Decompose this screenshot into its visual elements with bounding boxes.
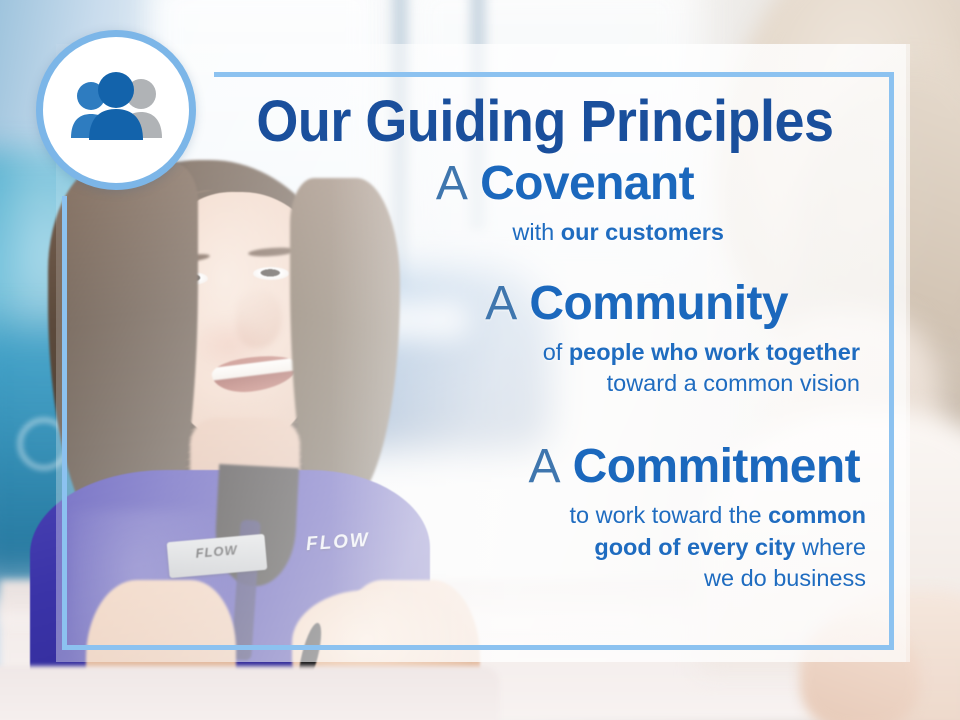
frame-border-left: [62, 196, 67, 650]
principle-lead-article: A: [485, 277, 516, 330]
principle-lead-article: A: [528, 440, 559, 493]
principle-heading-commitment: A Commitment: [214, 442, 860, 493]
principle-subtext-covenant: with our customers: [214, 217, 724, 249]
principle-keyword: Commitment: [573, 440, 860, 493]
principle-subtext-community: of people who work togethertoward a comm…: [214, 337, 860, 400]
principle-heading-covenant: A Covenant: [214, 159, 694, 210]
customer-fingers: [800, 620, 920, 720]
counter-top: [0, 666, 500, 720]
principle-keyword: Covenant: [480, 157, 694, 210]
principles-graphic: FLOW FLOW: [0, 0, 960, 720]
group-of-people-badge: [36, 30, 196, 190]
principle-keyword: Community: [529, 277, 788, 330]
principle-covenant: A Covenant with our customers: [214, 159, 876, 249]
principle-heading-community: A Community: [214, 279, 788, 330]
principle-community: A Community of people who work togethert…: [214, 279, 876, 400]
page-title: Our Guiding Principles: [237, 92, 853, 151]
principle-commitment: A Commitment to work toward the commongo…: [214, 442, 876, 595]
frame-border-right: [889, 72, 894, 650]
principle-subtext-commitment: to work toward the commongood of every c…: [214, 500, 866, 595]
frame-border-bottom: [62, 645, 894, 650]
principles-text-block: Our Guiding Principles A Covenant with o…: [214, 78, 876, 595]
frame-border-top: [214, 72, 894, 77]
principle-lead-article: A: [436, 157, 467, 210]
group-of-people-icon: [62, 70, 170, 150]
